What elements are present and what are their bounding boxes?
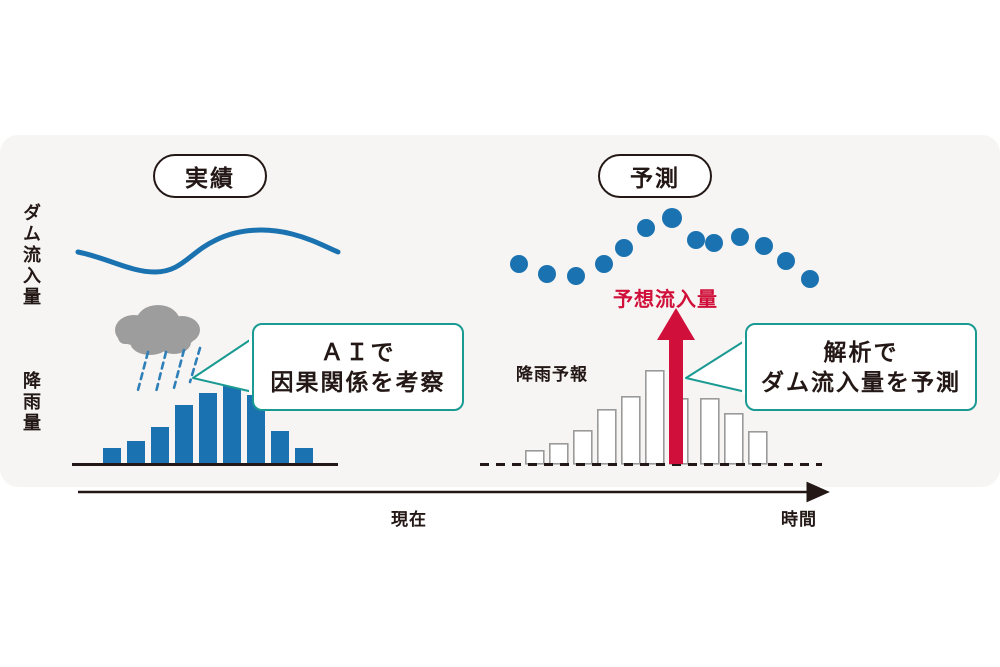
- callout-right-line2: ダム流入量を予測: [761, 367, 961, 397]
- callout-right-line1: 解析で: [824, 337, 899, 367]
- rain-streaks-icon: [138, 348, 200, 392]
- callout-ai-causal: ＡＩで 因果関係を考察: [252, 323, 464, 411]
- inflow-actual-curve: [78, 230, 338, 272]
- pill-forecast-text: 予測: [630, 159, 680, 193]
- callout-right-tail: [686, 340, 746, 392]
- callout-left-tail: [193, 338, 253, 392]
- annotation-rain-forecast: 降雨予報: [516, 360, 588, 385]
- callout-analysis-predict: 解析で ダム流入量を予測: [745, 323, 977, 411]
- callout-left-line1: ＡＩで: [321, 337, 396, 367]
- axis-tick-now: 現在: [391, 505, 427, 530]
- callout-left-line2: 因果関係を考察: [271, 367, 446, 397]
- cloud-icon: [115, 305, 200, 355]
- pill-actual-text: 実績: [185, 159, 235, 193]
- axis-label-rainfall: 降雨量: [22, 371, 40, 434]
- axis-label-inflow: ダム流入量: [22, 203, 40, 308]
- label-pill-forecast: 予測: [598, 154, 712, 198]
- axis-tick-time: 時間: [781, 505, 817, 530]
- label-pill-actual: 実績: [153, 154, 267, 198]
- predicted-inflow-dots: [510, 208, 819, 288]
- annotation-predicted-inflow: 予想流入量: [613, 283, 718, 312]
- diagram-canvas: 実績 予測 ダム流入量 降雨量 降雨予報 予想流入量 ＡＩで 因果関係を考察 解…: [0, 0, 1000, 667]
